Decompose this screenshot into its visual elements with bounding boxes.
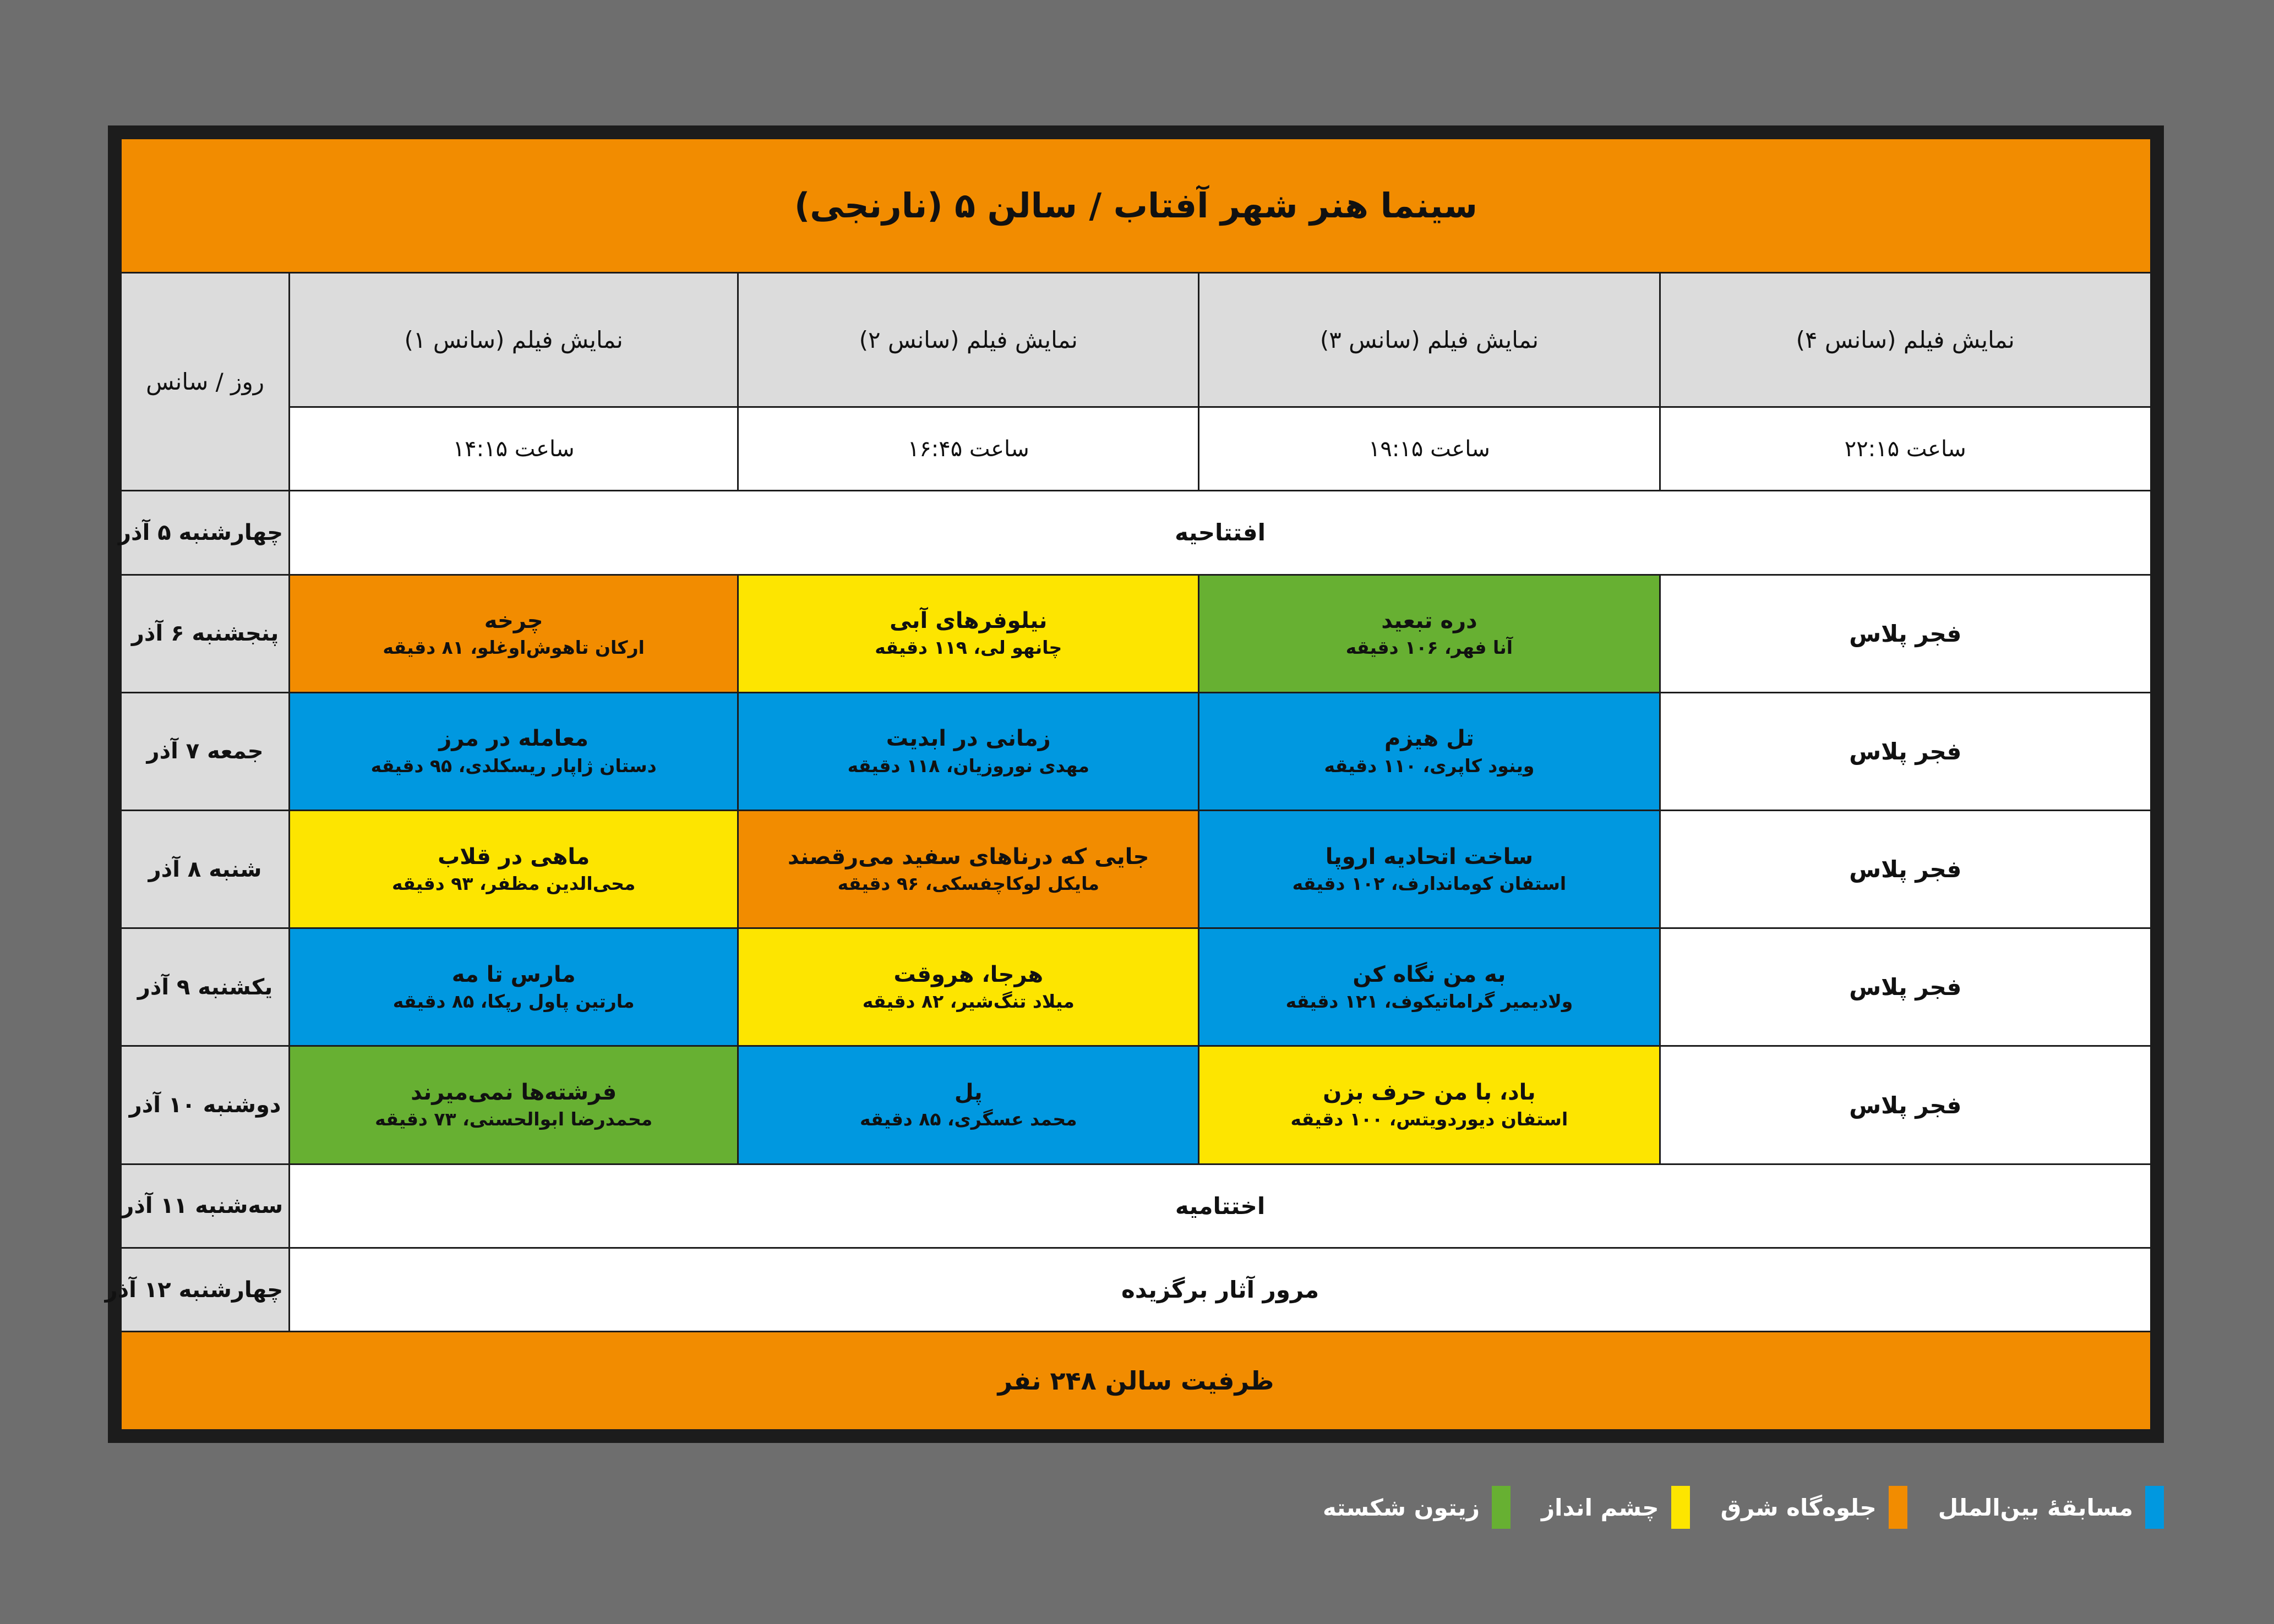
day-label: یکشنبه ۹ آذر <box>121 928 290 1046</box>
film-title: جایی که درناهای سفید می‌رقصند <box>744 844 1192 870</box>
film-cell: باد، با من حرف بزناستفان دیوردویتس، ۱۰۰ … <box>1199 1046 1660 1164</box>
film-title: ماهی در قلاب <box>296 844 732 870</box>
poster-page: سینما هنر شهر آفتاب / سالن ۵ (نارنجی)نما… <box>0 0 2274 1624</box>
legend-color-swatch <box>1671 1486 1690 1529</box>
film-detail: آنا فهر، ۱۰۶ دقیقه <box>1205 637 1653 659</box>
event-cell: اختتامیه <box>290 1164 2151 1248</box>
session-header-4: نمایش فیلم (سانس ۴) <box>1660 272 2151 407</box>
table-row: فجر پلاسبه من نگاه کنولادیمیر گراماتیکوف… <box>121 928 2151 1046</box>
film-title: چرخه <box>296 608 732 634</box>
legend-color-swatch <box>1889 1486 1907 1529</box>
day-label: جمعه ۷ آذر <box>121 692 290 810</box>
film-cell: ماهی در قلابمحی‌الدین مظفر، ۹۳ دقیقه <box>290 811 738 928</box>
film-detail: مهدی نوروزیان، ۱۱۸ دقیقه <box>744 756 1192 777</box>
film-title: نیلوفرهای آبی <box>744 608 1192 634</box>
table-row: فجر پلاستل هیزموینود کاپری، ۱۱۰ دقیقهزما… <box>121 692 2151 810</box>
legend-color-swatch <box>2145 1486 2164 1529</box>
film-detail: ولادیمیر گراماتیکوف، ۱۲۱ دقیقه <box>1205 991 1653 1013</box>
category-legend: مسابقهٔ بین‌المللجلوه‌گاه شرقچشم انداززی… <box>0 1486 2274 1529</box>
film-title: باد، با من حرف بزن <box>1205 1080 1653 1106</box>
legend-item: مسابقهٔ بین‌الملل <box>1938 1486 2164 1529</box>
legend-item: چشم انداز <box>1541 1486 1690 1529</box>
schedule-table-frame: سینما هنر شهر آفتاب / سالن ۵ (نارنجی)نما… <box>108 125 2164 1443</box>
film-detail: وینود کاپری، ۱۱۰ دقیقه <box>1205 756 1653 777</box>
film-title: به من نگاه کن <box>1205 962 1653 988</box>
film-cell: فرشته‌ها نمی‌میرندمحمدرضا ابوالحسنی، ۷۳ … <box>290 1046 738 1164</box>
legend-label: زیتون شکسته <box>1323 1494 1480 1521</box>
film-detail: چانهو لی، ۱۱۹ دقیقه <box>744 637 1192 659</box>
event-cell: افتتاحیه <box>290 491 2151 575</box>
film-cell: چرخهارکان تاهوش‌اوغلو، ۸۱ دقیقه <box>290 575 738 692</box>
page-title: سینما هنر شهر آفتاب / سالن ۵ (نارنجی) <box>121 139 2151 273</box>
table-row: افتتاحیهچهارشنبه ۵ آذر <box>121 491 2151 575</box>
day-label: شنبه ۸ آذر <box>121 811 290 928</box>
legend-label: مسابقهٔ بین‌الملل <box>1938 1494 2133 1521</box>
film-cell: زمانی در ابدیتمهدی نوروزیان، ۱۱۸ دقیقه <box>738 692 1199 810</box>
session-header-2: نمایش فیلم (سانس ۲) <box>738 272 1199 407</box>
film-title: زمانی در ابدیت <box>744 726 1192 752</box>
session-header-row: نمایش فیلم (سانس ۴)نمایش فیلم (سانس ۳)نم… <box>121 272 2151 407</box>
film-title: تل هیزم <box>1205 726 1653 752</box>
film-cell: پلمحمد عسگری، ۸۵ دقیقه <box>738 1046 1199 1164</box>
session-header-1: نمایش فیلم (سانس ۱) <box>290 272 738 407</box>
film-detail: مایکل لوکاچفسکی، ۹۶ دقیقه <box>744 873 1192 895</box>
session-time-row: ساعت ۲۲:۱۵ساعت ۱۹:۱۵ساعت ۱۶:۴۵ساعت ۱۴:۱۵ <box>121 407 2151 490</box>
day-session-header: روز / سانس <box>121 272 290 490</box>
film-title: مارس تا مه <box>296 962 732 988</box>
schedule-table: سینما هنر شهر آفتاب / سالن ۵ (نارنجی)نما… <box>120 138 2152 1431</box>
film-cell: معامله در مرزدستان ژاپار ریسکلدی، ۹۵ دقی… <box>290 692 738 810</box>
event-cell: مرور آثار برگزیده <box>290 1248 2151 1332</box>
session-time-3: ساعت ۱۹:۱۵ <box>1199 407 1660 490</box>
legend-label: چشم انداز <box>1541 1494 1659 1521</box>
film-cell: دره تبعیدآنا فهر، ۱۰۶ دقیقه <box>1199 575 1660 692</box>
session-time-4: ساعت ۲۲:۱۵ <box>1660 407 2151 490</box>
film-title: فرشته‌ها نمی‌میرند <box>296 1080 732 1106</box>
day-label: سه‌شنبه ۱۱ آذر <box>121 1164 290 1248</box>
day-label: چهارشنبه ۵ آذر <box>121 491 290 575</box>
film-detail: استفان دیوردویتس، ۱۰۰ دقیقه <box>1205 1109 1653 1130</box>
table-row: فجر پلاسباد، با من حرف بزناستفان دیوردوی… <box>121 1046 2151 1164</box>
table-row: فجر پلاسساخت اتحادیه اروپااستفان کوماندا… <box>121 811 2151 928</box>
film-cell: جایی که درناهای سفید می‌رقصندمایکل لوکاچ… <box>738 811 1199 928</box>
film-detail: ارکان تاهوش‌اوغلو، ۸۱ دقیقه <box>296 637 732 659</box>
film-cell: ساخت اتحادیه اروپااستفان کوماندارف، ۱۰۲ … <box>1199 811 1660 928</box>
table-row: مرور آثار برگزیدهچهارشنبه ۱۲ آذر <box>121 1248 2151 1332</box>
fajr-plus-cell: فجر پلاس <box>1660 811 2151 928</box>
film-detail: مارتین پاول رپکا، ۸۵ دقیقه <box>296 991 732 1013</box>
film-detail: محی‌الدین مظفر، ۹۳ دقیقه <box>296 873 732 895</box>
table-row: فجر پلاسدره تبعیدآنا فهر، ۱۰۶ دقیقهنیلوف… <box>121 575 2151 692</box>
title-row: سینما هنر شهر آفتاب / سالن ۵ (نارنجی) <box>121 139 2151 273</box>
day-label: پنجشنبه ۶ آذر <box>121 575 290 692</box>
film-detail: دستان ژاپار ریسکلدی، ۹۵ دقیقه <box>296 756 732 777</box>
legend-item: جلوه‌گاه شرق <box>1721 1486 1907 1529</box>
film-title: معامله در مرز <box>296 726 732 752</box>
fajr-plus-cell: فجر پلاس <box>1660 575 2151 692</box>
film-title: پل <box>744 1080 1192 1106</box>
legend-color-swatch <box>1492 1486 1510 1529</box>
film-title: ساخت اتحادیه اروپا <box>1205 844 1653 870</box>
legend-item: زیتون شکسته <box>1323 1486 1510 1529</box>
day-label: دوشنبه ۱۰ آذر <box>121 1046 290 1164</box>
film-detail: میلاد تنگ‌شیر، ۸۲ دقیقه <box>744 991 1192 1013</box>
film-detail: استفان کوماندارف، ۱۰۲ دقیقه <box>1205 873 1653 895</box>
film-title: هرجا، هروقت <box>744 962 1192 988</box>
capacity-row: ظرفیت سالن ۲۴۸ نفر <box>121 1332 2151 1430</box>
legend-label: جلوه‌گاه شرق <box>1721 1494 1877 1521</box>
fajr-plus-cell: فجر پلاس <box>1660 692 2151 810</box>
session-header-3: نمایش فیلم (سانس ۳) <box>1199 272 1660 407</box>
table-row: اختتامیهسه‌شنبه ۱۱ آذر <box>121 1164 2151 1248</box>
film-detail: محمد عسگری، ۸۵ دقیقه <box>744 1109 1192 1130</box>
hall-capacity: ظرفیت سالن ۲۴۸ نفر <box>121 1332 2151 1430</box>
day-label: چهارشنبه ۱۲ آذر <box>121 1248 290 1332</box>
film-cell: به من نگاه کنولادیمیر گراماتیکوف، ۱۲۱ دق… <box>1199 928 1660 1046</box>
session-time-1: ساعت ۱۴:۱۵ <box>290 407 738 490</box>
film-detail: محمدرضا ابوالحسنی، ۷۳ دقیقه <box>296 1109 732 1130</box>
film-cell: هرجا، هروقتمیلاد تنگ‌شیر، ۸۲ دقیقه <box>738 928 1199 1046</box>
fajr-plus-cell: فجر پلاس <box>1660 1046 2151 1164</box>
film-cell: نیلوفرهای آبیچانهو لی، ۱۱۹ دقیقه <box>738 575 1199 692</box>
film-cell: تل هیزموینود کاپری، ۱۱۰ دقیقه <box>1199 692 1660 810</box>
film-cell: مارس تا مهمارتین پاول رپکا، ۸۵ دقیقه <box>290 928 738 1046</box>
fajr-plus-cell: فجر پلاس <box>1660 928 2151 1046</box>
session-time-2: ساعت ۱۶:۴۵ <box>738 407 1199 490</box>
film-title: دره تبعید <box>1205 608 1653 634</box>
